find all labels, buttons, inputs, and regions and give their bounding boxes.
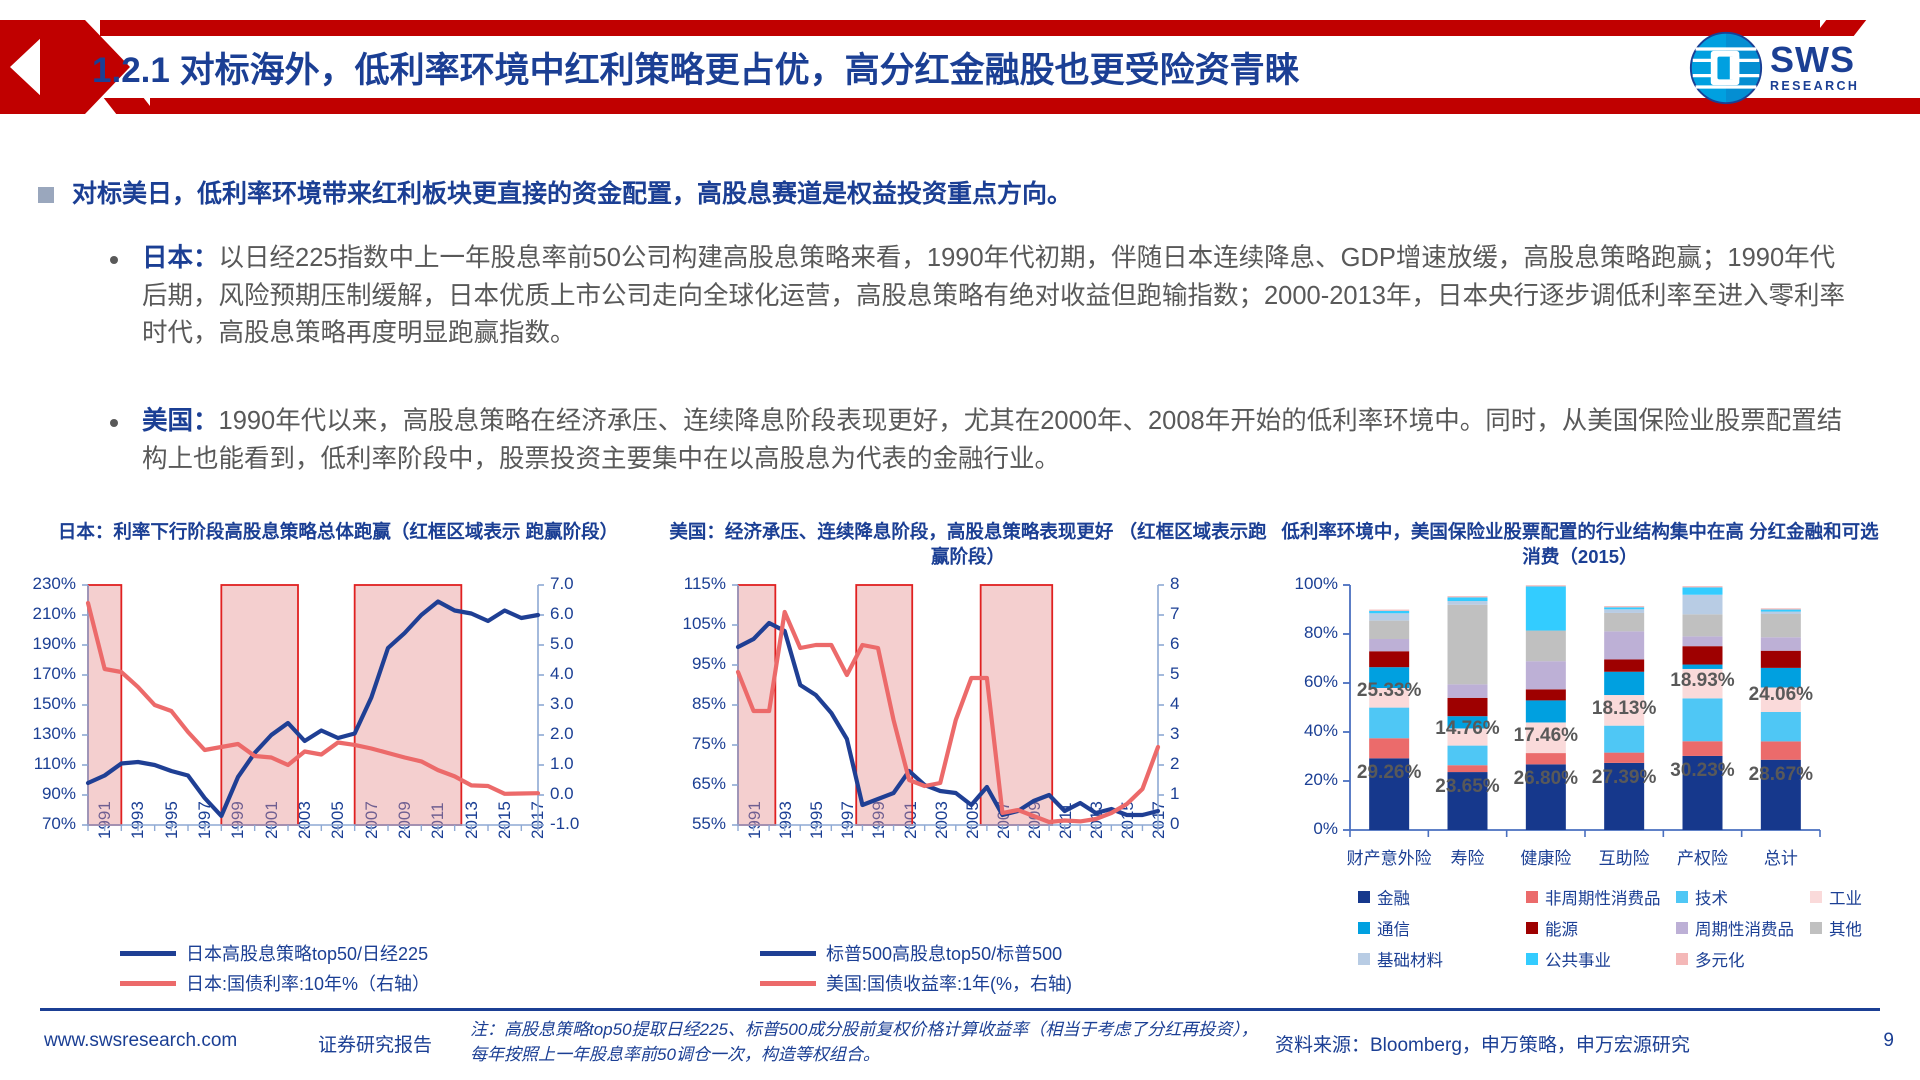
bar-segment-健康险-能源: [1526, 689, 1566, 700]
usa-legend-swatch-0: [760, 951, 816, 956]
insurance-legend-row-0: 金融非周期性消费品技术工业: [1358, 885, 1898, 909]
sws-subwordmark: RESEARCH: [1770, 78, 1859, 96]
dot-bullet-icon: [110, 419, 118, 427]
bar-segment-产权险-其他: [1683, 614, 1723, 636]
insurance-legend: 金融非周期性消费品技术工业通信能源周期性消费品其他基础材料公共事业多元化: [1358, 885, 1898, 978]
bar-consumer-value-0: 25.33%: [1353, 680, 1425, 702]
bar-segment-互助险-公共事业: [1604, 607, 1644, 609]
bar-financial-value-0: 29.26%: [1353, 762, 1425, 784]
footer-note: 注：高股息策略top50提取日经225、标普500成分股前复权价格计算收益率（相…: [470, 1018, 1260, 1067]
bar-segment-互助险-能源: [1604, 660, 1644, 672]
bar-segment-寿险-其他: [1448, 605, 1488, 685]
japan-legend-swatch-0: [120, 951, 176, 956]
legend-label-工业: 工业: [1829, 885, 1862, 909]
legend-label-通信: 通信: [1377, 916, 1410, 940]
legend-swatch-技术: [1676, 891, 1688, 903]
insurance-legend-item-技术: 技术: [1676, 885, 1728, 909]
header-red-bar-bottom: [150, 98, 1920, 114]
legend-swatch-公共事业: [1526, 953, 1538, 965]
legend-swatch-多元化: [1676, 953, 1688, 965]
bar-segment-产权险-能源: [1683, 646, 1723, 664]
usa-legend-label-0: 标普500高股息top50/标普500: [826, 940, 1062, 966]
legend-swatch-周期性消费品: [1676, 922, 1688, 934]
bar-consumer-value-3: 18.13%: [1588, 698, 1660, 720]
bar-segment-总计-多元化: [1761, 608, 1801, 609]
bar-segment-产权险-公共事业: [1683, 587, 1723, 594]
header-red-bar-top: [100, 20, 1820, 36]
bar-financial-value-1: 23.65%: [1432, 776, 1504, 798]
insurance-legend-item-金融: 金融: [1358, 885, 1410, 909]
legend-swatch-通信: [1358, 922, 1370, 934]
sws-globe-icon: [1688, 30, 1764, 106]
bar-segment-总计-能源: [1761, 651, 1801, 668]
bar-segment-总计-技术: [1761, 712, 1801, 741]
usa-legend-label-1: 美国:国债收益率:1年(%，右轴): [826, 970, 1072, 996]
sws-logo-text: SWS RESEARCH: [1770, 42, 1859, 96]
bar-segment-寿险-基础材料: [1448, 601, 1488, 605]
bar-segment-寿险-技术: [1448, 746, 1488, 766]
insurance-legend-item-通信: 通信: [1358, 916, 1410, 940]
bar-financial-value-4: 30.23%: [1667, 760, 1739, 782]
bar-segment-财产意外险-能源: [1369, 651, 1409, 667]
summary-bullet-text: 对标美日，低利率环境带来红利板块更直接的资金配置，高股息赛道是权益投资重点方向。: [72, 178, 1072, 211]
bar-segment-互助险-非周期性消费品: [1604, 753, 1644, 763]
insurance-legend-item-工业: 工业: [1810, 885, 1862, 909]
usa-chart: 115%105%95%85%75%65%55%87654321019911993…: [660, 575, 1290, 1005]
insurance-bar-chart: 100%80%60%40%20%0%29.26%25.33%财产意外险23.65…: [1280, 575, 1910, 1005]
summary-bullet: 对标美日，低利率环境带来红利板块更直接的资金配置，高股息赛道是权益投资重点方向。: [38, 178, 1738, 211]
insurance-legend-item-多元化: 多元化: [1676, 947, 1745, 971]
bar-segment-财产意外险-技术: [1369, 708, 1409, 739]
japan-chart-title-line1: 日本：利率下行阶段高股息策略总体跑赢（红框区域表示: [58, 521, 521, 542]
footer-url[interactable]: www.swsresearch.com: [44, 1030, 237, 1052]
bullet-japan-label: 日本：: [142, 244, 219, 272]
bar-segment-健康险-周期性消费品: [1526, 661, 1566, 689]
bar-segment-总计-其他: [1761, 614, 1801, 637]
usa-chart-title: 美国：经济承压、连续降息阶段，高股息策略表现更好 （红框区域表示跑赢阶段）: [668, 520, 1268, 570]
bar-segment-互助险-多元化: [1604, 606, 1644, 607]
bar-segment-健康险-通信: [1526, 700, 1566, 722]
bar-segment-财产意外险-周期性消费品: [1369, 639, 1409, 651]
bar-segment-互助险-基础材料: [1604, 609, 1644, 613]
page-title: 1.2.1 对标海外，低利率环境中红利策略更占优，高分红金融股也更受险资青睐: [92, 38, 1692, 96]
bar-segment-产权险-通信: [1683, 665, 1723, 669]
japan-legend-label-0: 日本高股息策略top50/日经225: [186, 940, 428, 966]
legend-swatch-工业: [1810, 891, 1822, 903]
insurance-legend-item-基础材料: 基础材料: [1358, 947, 1443, 971]
legend-swatch-非周期性消费品: [1526, 891, 1538, 903]
legend-swatch-其他: [1810, 922, 1822, 934]
usa-legend-item-1: 美国:国债收益率:1年(%，右轴): [760, 970, 1072, 996]
page-number: 9: [1883, 1030, 1894, 1052]
bar-segment-健康险-其他: [1526, 631, 1566, 662]
japan-legend-item-0: 日本高股息策略top50/日经225: [120, 940, 428, 966]
legend-label-多元化: 多元化: [1695, 947, 1745, 971]
legend-label-周期性消费品: 周期性消费品: [1695, 916, 1794, 940]
usa-plot: [660, 575, 1290, 875]
japan-legend-item-1: 日本:国债利率:10年%（右轴）: [120, 970, 430, 996]
bar-category-5: 总计: [1726, 844, 1836, 869]
insurance-legend-item-周期性消费品: 周期性消费品: [1676, 916, 1794, 940]
legend-label-技术: 技术: [1695, 885, 1728, 909]
bar-segment-总计-公共事业: [1761, 610, 1801, 612]
insurance-legend-row-2: 基础材料公共事业多元化: [1358, 947, 1898, 971]
insurance-chart-title-line1: 低利率环境中，美国保险业股票配置的行业结构集中在高: [1281, 521, 1744, 542]
footer-divider: [40, 1008, 1880, 1011]
legend-label-能源: 能源: [1545, 916, 1578, 940]
usa-series-0: [738, 623, 1158, 815]
footer-source: 资料来源：Bloomberg，申万策略，申万宏源研究: [1275, 1030, 1690, 1057]
japan-highlight-band-2: [355, 585, 462, 825]
bar-segment-寿险-能源: [1448, 698, 1488, 716]
bar-segment-总计-基础材料: [1761, 612, 1801, 614]
usa-legend-item-0: 标普500高股息top50/标普500: [760, 940, 1062, 966]
bullet-usa-label: 美国：: [142, 407, 219, 435]
japan-chart-title: 日本：利率下行阶段高股息策略总体跑赢（红框区域表示 跑赢阶段）: [18, 520, 658, 545]
japan-chart-title-line2: 跑赢阶段）: [526, 521, 619, 542]
bar-consumer-value-4: 18.93%: [1667, 670, 1739, 692]
bar-segment-互助险-周期性消费品: [1604, 631, 1644, 659]
dot-bullet-icon: [110, 256, 118, 264]
japan-legend-label-1: 日本:国债利率:10年%（右轴）: [186, 970, 430, 996]
bar-segment-财产意外险-非周期性消费品: [1369, 738, 1409, 758]
bar-segment-健康险-非周期性消费品: [1526, 753, 1566, 764]
bar-segment-寿险-非周期性消费品: [1448, 765, 1488, 772]
bar-segment-产权险-非周期性消费品: [1683, 741, 1723, 756]
bullet-japan: 日本：以日经225指数中上一年股息率前50公司构建高股息策略来看，1990年代初…: [110, 240, 1850, 353]
bar-segment-健康险-公共事业: [1526, 586, 1566, 630]
japan-plot: [10, 575, 670, 875]
insurance-legend-item-公共事业: 公共事业: [1526, 947, 1611, 971]
legend-label-金融: 金融: [1377, 885, 1410, 909]
bar-segment-寿险-多元化: [1448, 596, 1488, 597]
japan-legend-swatch-1: [120, 981, 176, 986]
bar-segment-互助险-其他: [1604, 613, 1644, 631]
bar-segment-寿险-周期性消费品: [1448, 684, 1488, 697]
legend-label-其他: 其他: [1829, 916, 1862, 940]
bar-financial-value-2: 26.80%: [1510, 768, 1582, 790]
square-bullet-icon: [38, 187, 54, 203]
bar-segment-总计-非周期性消费品: [1761, 741, 1801, 759]
bar-segment-寿险-公共事业: [1448, 597, 1488, 601]
legend-swatch-能源: [1526, 922, 1538, 934]
bullet-usa: 美国：1990年代以来，高股息策略在经济承压、连续降息阶段表现更好，尤其在200…: [110, 403, 1850, 478]
footer-report-label: 证券研究报告: [318, 1030, 432, 1057]
insurance-chart-title: 低利率环境中，美国保险业股票配置的行业结构集中在高 分红金融和可选消费（2015…: [1280, 520, 1880, 570]
japan-chart: 230%210%190%170%150%130%110%90%70%7.06.0…: [10, 575, 670, 1005]
bar-segment-健康险-多元化: [1526, 585, 1566, 586]
bar-financial-value-3: 27.39%: [1588, 767, 1660, 789]
bar-financial-value-5: 28.67%: [1745, 764, 1817, 786]
legend-label-基础材料: 基础材料: [1377, 947, 1443, 971]
bullet-japan-body: 日本：以日经225指数中上一年股息率前50公司构建高股息策略来看，1990年代初…: [142, 240, 1850, 353]
bar-consumer-value-1: 14.76%: [1432, 718, 1504, 740]
usa-highlight-band-1: [856, 585, 912, 825]
insurance-legend-row-1: 通信能源周期性消费品其他: [1358, 916, 1898, 940]
insurance-plot: [1280, 575, 1910, 875]
bullet-usa-text: 1990年代以来，高股息策略在经济承压、连续降息阶段表现更好，尤其在2000年、…: [142, 407, 1842, 473]
bar-consumer-value-2: 17.46%: [1510, 725, 1582, 747]
bar-segment-财产意外险-多元化: [1369, 610, 1409, 611]
bar-segment-财产意外险-公共事业: [1369, 611, 1409, 613]
legend-label-非周期性消费品: 非周期性消费品: [1545, 885, 1661, 909]
bar-segment-产权险-技术: [1683, 698, 1723, 741]
insurance-legend-item-其他: 其他: [1810, 916, 1862, 940]
legend-label-公共事业: 公共事业: [1545, 947, 1611, 971]
sws-logo: SWS RESEARCH: [1688, 28, 1878, 108]
bullet-usa-body: 美国：1990年代以来，高股息策略在经济承压、连续降息阶段表现更好，尤其在200…: [142, 403, 1850, 478]
insurance-legend-item-非周期性消费品: 非周期性消费品: [1526, 885, 1661, 909]
bar-segment-互助险-技术: [1604, 726, 1644, 753]
legend-swatch-金融: [1358, 891, 1370, 903]
bar-consumer-value-5: 24.06%: [1745, 684, 1817, 706]
bar-segment-总计-周期性消费品: [1761, 637, 1801, 650]
bar-segment-产权险-基础材料: [1683, 595, 1723, 615]
bar-segment-互助险-通信: [1604, 672, 1644, 695]
sws-wordmark: SWS: [1770, 42, 1859, 78]
page-header: 1.2.1 对标海外，低利率环境中红利策略更占优，高分红金融股也更受险资青睐 S…: [0, 0, 1920, 132]
bar-segment-财产意外险-基础材料: [1369, 613, 1409, 620]
legend-swatch-基础材料: [1358, 953, 1370, 965]
usa-chart-title-line1: 美国：经济承压、连续降息阶段，高股息策略表现更好: [669, 521, 1113, 542]
bar-segment-财产意外险-其他: [1369, 621, 1409, 639]
usa-legend-swatch-1: [760, 981, 816, 986]
bullet-japan-text: 以日经225指数中上一年股息率前50公司构建高股息策略来看，1990年代初期，伴…: [142, 244, 1845, 347]
bar-segment-产权险-周期性消费品: [1683, 636, 1723, 646]
insurance-legend-item-能源: 能源: [1526, 916, 1578, 940]
bar-segment-产权险-多元化: [1683, 586, 1723, 587]
